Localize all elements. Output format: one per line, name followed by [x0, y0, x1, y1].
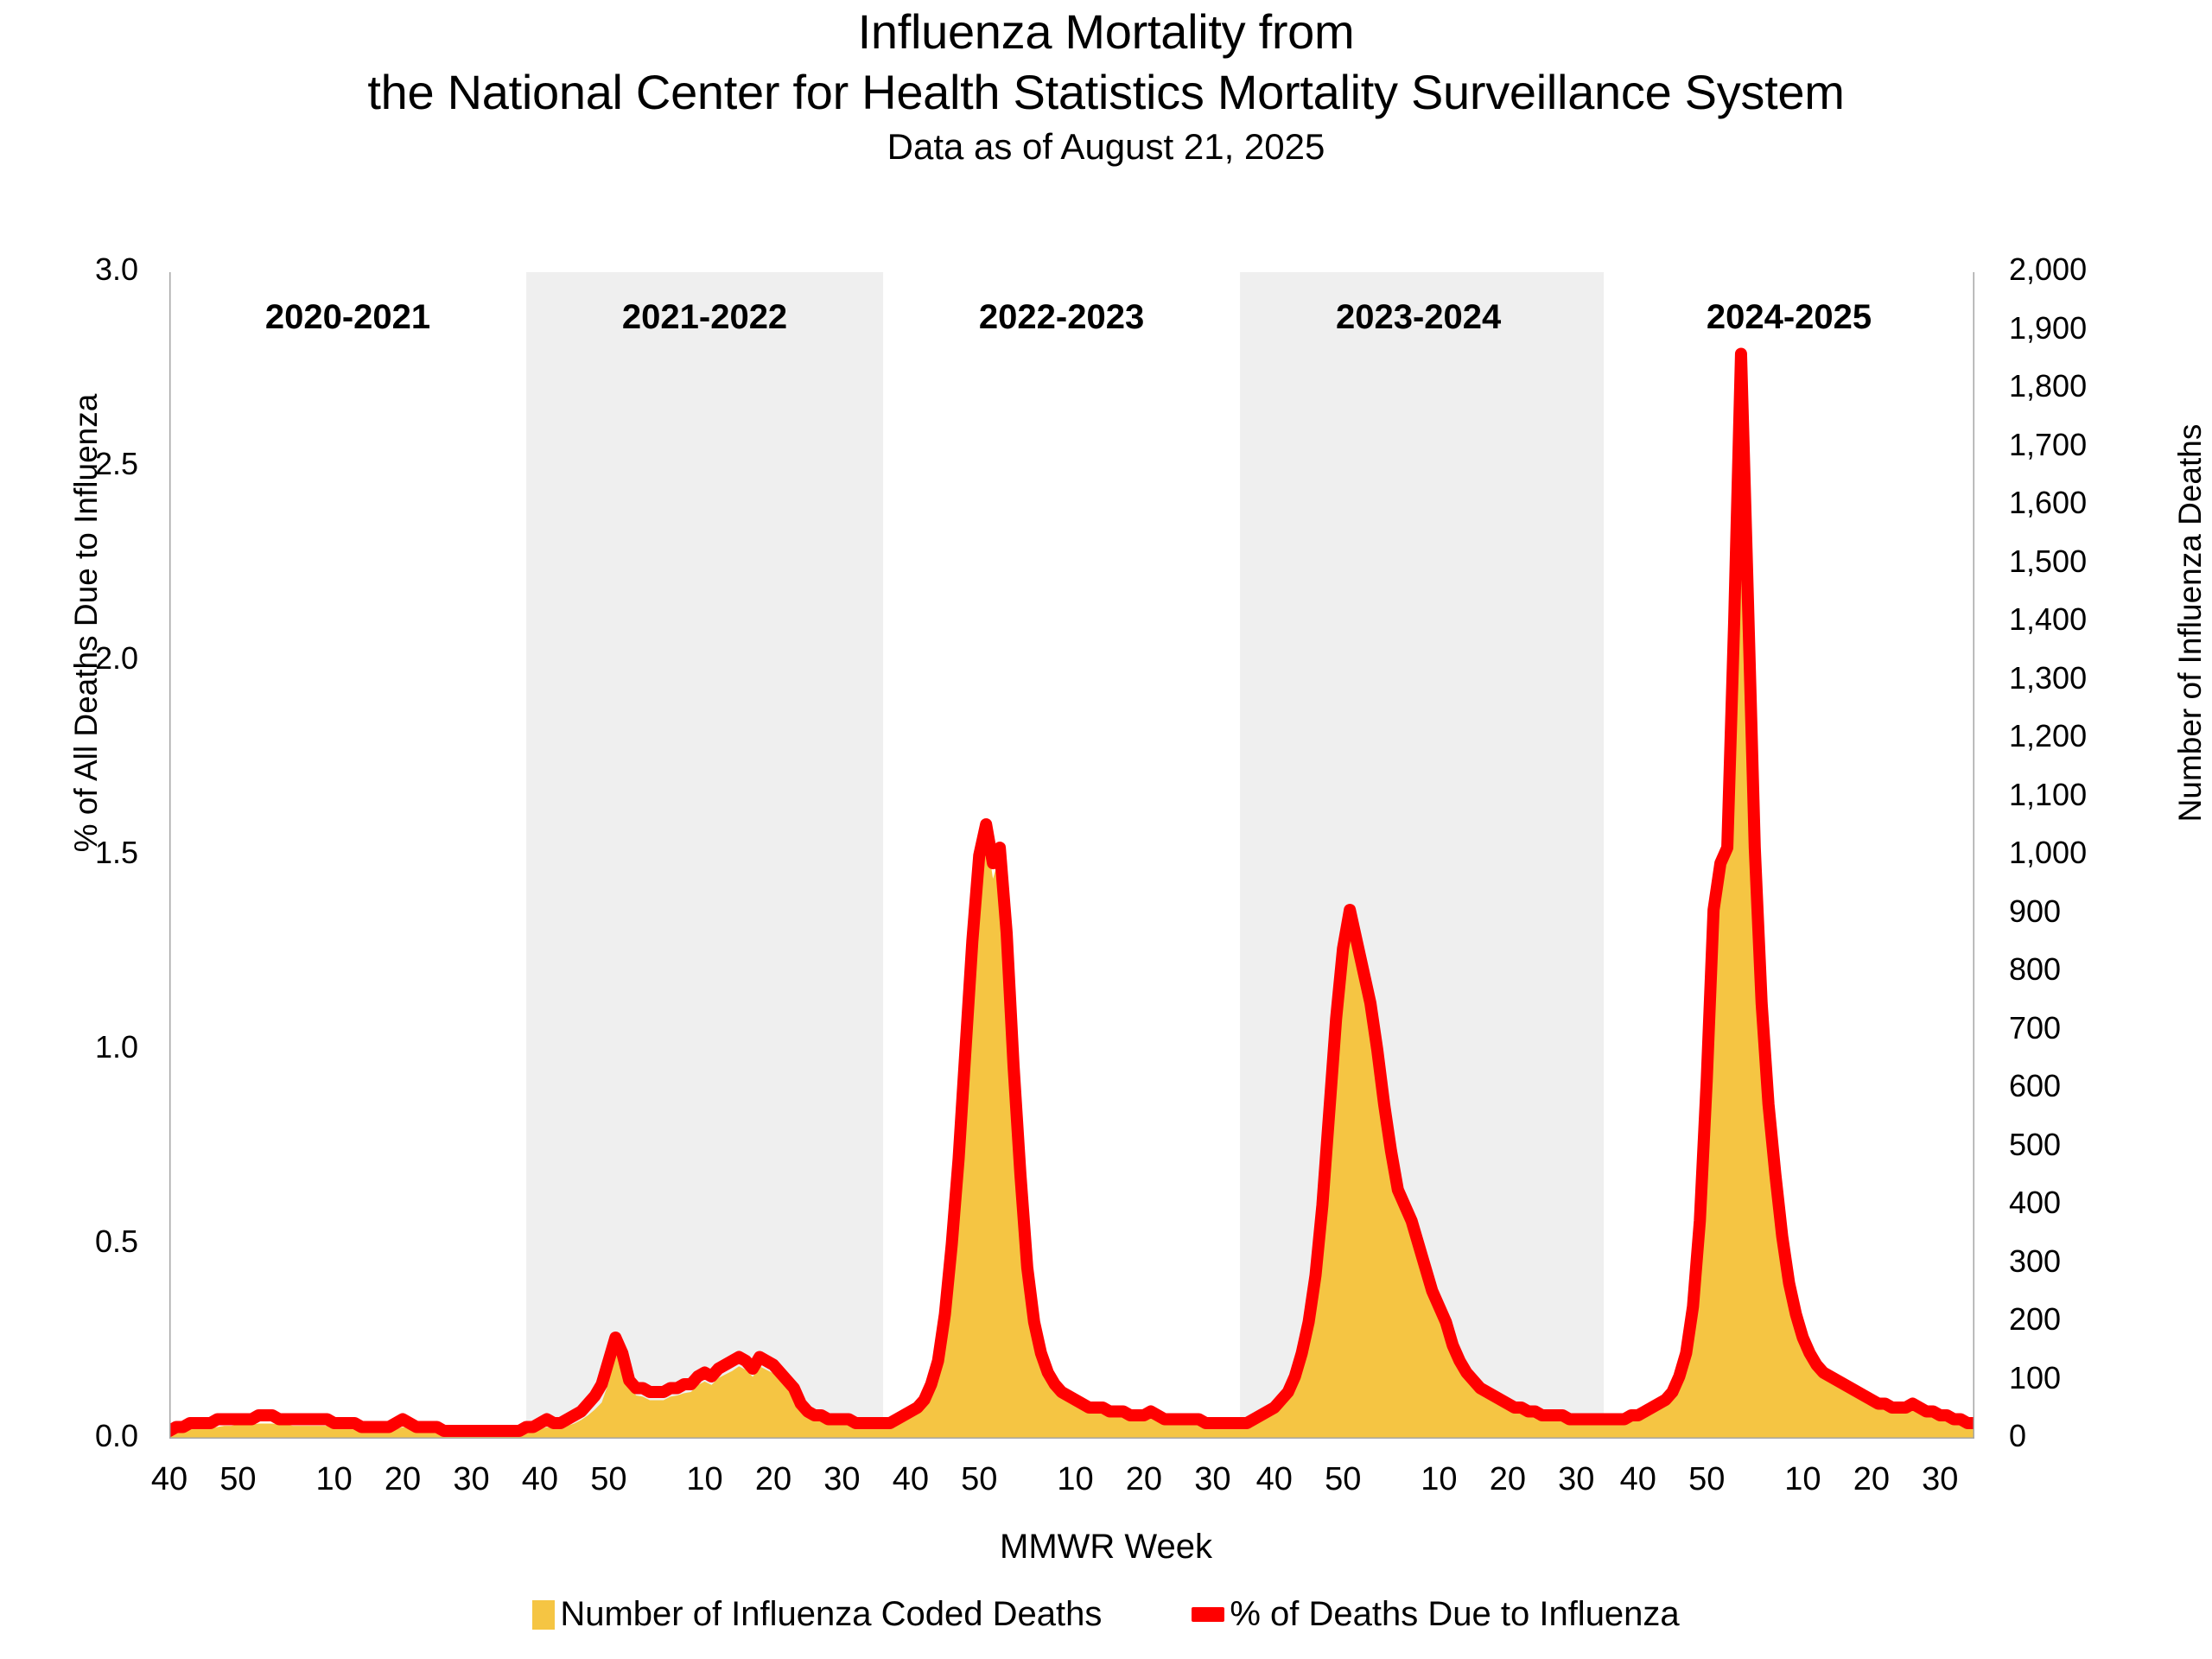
- right-axis-title: Number of Influenza Deaths: [2172, 321, 2209, 925]
- x-axis-tick-label: 20: [734, 1461, 812, 1498]
- season-band-2021-2022: [526, 272, 883, 1439]
- right-axis-tick-label: 200: [2009, 1301, 2173, 1338]
- x-axis-tick-label: 20: [1105, 1461, 1183, 1498]
- x-axis-tick-label: 10: [1764, 1461, 1841, 1498]
- x-axis-tick-label: 50: [940, 1461, 1018, 1498]
- right-axis-tick-label: 900: [2009, 893, 2173, 930]
- influenza-deaths-area: [169, 359, 1974, 1439]
- right-axis-tick-label: 1,700: [2009, 427, 2173, 463]
- x-axis-tick-label: 40: [501, 1461, 579, 1498]
- right-axis-tick-label: 800: [2009, 951, 2173, 988]
- x-axis-tick-label: 10: [296, 1461, 373, 1498]
- x-axis-tick-label: 50: [199, 1461, 276, 1498]
- left-axis-tick-label: 0.0: [0, 1418, 138, 1454]
- season-label-2024-2025: 2024-2025: [1651, 298, 1928, 337]
- left-axis-tick-label: 2.5: [0, 446, 138, 482]
- right-axis-tick-label: 1,800: [2009, 368, 2173, 404]
- right-axis-tick-label: 1,400: [2009, 601, 2173, 638]
- x-axis-tick-label: 10: [1036, 1461, 1114, 1498]
- right-axis-tick-label: 1,500: [2009, 543, 2173, 580]
- x-axis-title: MMWR Week: [0, 1528, 2212, 1567]
- legend-item-deaths: Number of Influenza Coded Deaths: [532, 1595, 1102, 1634]
- right-axis-tick-label: 2,000: [2009, 251, 2173, 288]
- x-axis-tick-label: 50: [569, 1461, 647, 1498]
- right-axis-tick-label: 700: [2009, 1010, 2173, 1046]
- right-axis-tick-label: 400: [2009, 1185, 2173, 1221]
- legend-label-deaths: Number of Influenza Coded Deaths: [560, 1595, 1102, 1634]
- x-axis-tick-label: 50: [1668, 1461, 1745, 1498]
- x-axis-tick-label: 30: [1901, 1461, 1979, 1498]
- x-axis-tick-label: 20: [1833, 1461, 1910, 1498]
- x-axis-tick-label: 30: [803, 1461, 880, 1498]
- right-axis-tick-label: 1,100: [2009, 777, 2173, 813]
- legend-label-percent: % of Deaths Due to Influenza: [1230, 1595, 1679, 1634]
- right-axis-tick-label: 600: [2009, 1068, 2173, 1104]
- right-axis-tick-label: 1,300: [2009, 660, 2173, 696]
- legend-item-percent: % of Deaths Due to Influenza: [1192, 1595, 1679, 1634]
- x-axis-tick-label: 40: [1599, 1461, 1677, 1498]
- season-label-2023-2024: 2023-2024: [1281, 298, 1557, 337]
- right-axis-tick-label: 0: [2009, 1418, 2173, 1454]
- x-axis-tick-label: 10: [1400, 1461, 1478, 1498]
- season-label-2021-2022: 2021-2022: [567, 298, 843, 337]
- chart-page: Influenza Mortality from the National Ce…: [0, 0, 2212, 1659]
- right-axis-tick-label: 300: [2009, 1243, 2173, 1280]
- x-axis-tick-label: 10: [666, 1461, 744, 1498]
- left-axis-tick-label: 1.0: [0, 1029, 138, 1065]
- x-axis-tick-label: 40: [872, 1461, 950, 1498]
- chart-canvas: [169, 272, 1974, 1439]
- legend-line-swatch-icon: [1192, 1607, 1224, 1622]
- right-axis-tick-label: 1,900: [2009, 310, 2173, 346]
- right-axis-tick-label: 1,200: [2009, 718, 2173, 754]
- right-axis-tick-label: 100: [2009, 1360, 2173, 1396]
- season-label-2022-2023: 2022-2023: [924, 298, 1200, 337]
- x-axis-tick-label: 30: [432, 1461, 510, 1498]
- title-block: Influenza Mortality from the National Ce…: [0, 2, 2212, 171]
- season-label-2020-2021: 2020-2021: [210, 298, 486, 337]
- x-axis-tick-label: 50: [1304, 1461, 1382, 1498]
- chart-title-line-1: Influenza Mortality from: [0, 2, 2212, 62]
- x-axis-tick-label: 40: [1236, 1461, 1313, 1498]
- plot-area: [169, 272, 1974, 1439]
- right-axis-tick-label: 1,600: [2009, 485, 2173, 521]
- left-axis-tick-label: 0.5: [0, 1224, 138, 1260]
- right-axis-tick-label: 1,000: [2009, 835, 2173, 871]
- x-axis-tick-label: 20: [364, 1461, 442, 1498]
- left-axis-tick-label: 1.5: [0, 835, 138, 871]
- chart-title-line-2: the National Center for Health Statistic…: [0, 62, 2212, 123]
- chart-legend: Number of Influenza Coded Deaths % of De…: [0, 1595, 2212, 1634]
- left-axis-tick-label: 3.0: [0, 251, 138, 288]
- right-axis-tick-label: 500: [2009, 1127, 2173, 1163]
- left-axis-tick-label: 2.0: [0, 640, 138, 677]
- legend-area-swatch-icon: [532, 1600, 555, 1630]
- x-axis-tick-label: 40: [130, 1461, 208, 1498]
- chart-subtitle: Data as of August 21, 2025: [0, 123, 2212, 171]
- x-axis-tick-label: 20: [1469, 1461, 1547, 1498]
